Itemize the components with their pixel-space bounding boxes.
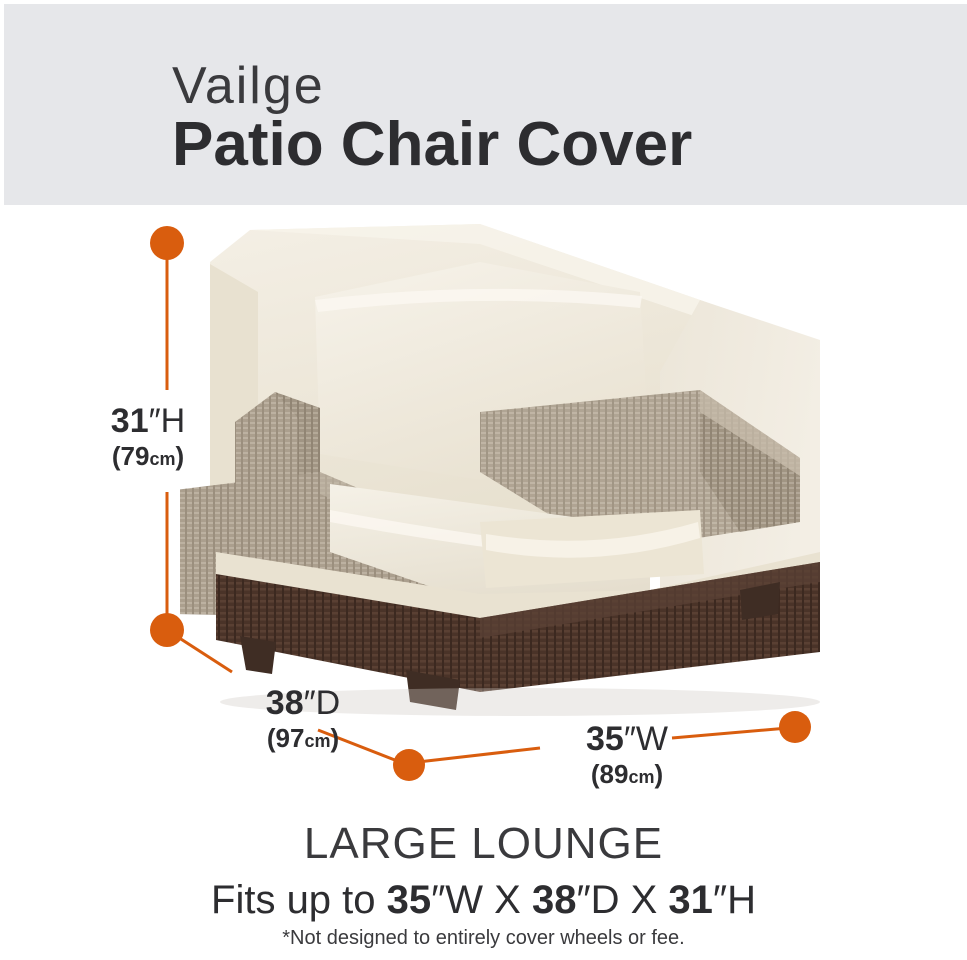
size-name: LARGE LOUNGE bbox=[0, 822, 967, 866]
header-band: Vailge Patio Chair Cover bbox=[4, 4, 967, 205]
brand-name: Vailge bbox=[172, 60, 325, 112]
dimension-depth-value: 38″D bbox=[228, 686, 378, 720]
page-title: Patio Chair Cover bbox=[172, 112, 692, 177]
fits-width-value: 35 bbox=[387, 878, 432, 922]
fits-height-unit: ″H bbox=[713, 878, 756, 922]
dimension-label-height: 31″H (79cm) bbox=[88, 404, 208, 469]
fits-width-unit: ″W bbox=[431, 878, 483, 922]
fits-height-value: 31 bbox=[668, 878, 713, 922]
dimension-depth-metric: (97cm) bbox=[228, 725, 378, 751]
fits-prefix: Fits up to bbox=[211, 878, 387, 922]
dimension-height-value: 31″H bbox=[88, 404, 208, 438]
fits-separator-2: X bbox=[620, 878, 669, 922]
dimension-label-depth: 38″D (97cm) bbox=[228, 686, 378, 751]
patio-chair-cover-illustration bbox=[180, 222, 840, 722]
fits-up-to-line: Fits up to 35″W X 38″D X 31″H bbox=[0, 878, 967, 922]
dimension-height-metric: (79cm) bbox=[88, 443, 208, 469]
dimension-width-metric: (89cm) bbox=[552, 761, 702, 787]
disclaimer-text: *Not designed to entirely cover wheels o… bbox=[0, 928, 967, 948]
fits-depth-unit: ″D bbox=[576, 878, 619, 922]
dimension-label-width: 35″W (89cm) bbox=[552, 722, 702, 787]
dimension-width-value: 35″W bbox=[552, 722, 702, 756]
fits-separator-1: X bbox=[483, 878, 532, 922]
fits-depth-value: 38 bbox=[532, 878, 577, 922]
product-infographic: Vailge Patio Chair Cover bbox=[0, 0, 967, 960]
